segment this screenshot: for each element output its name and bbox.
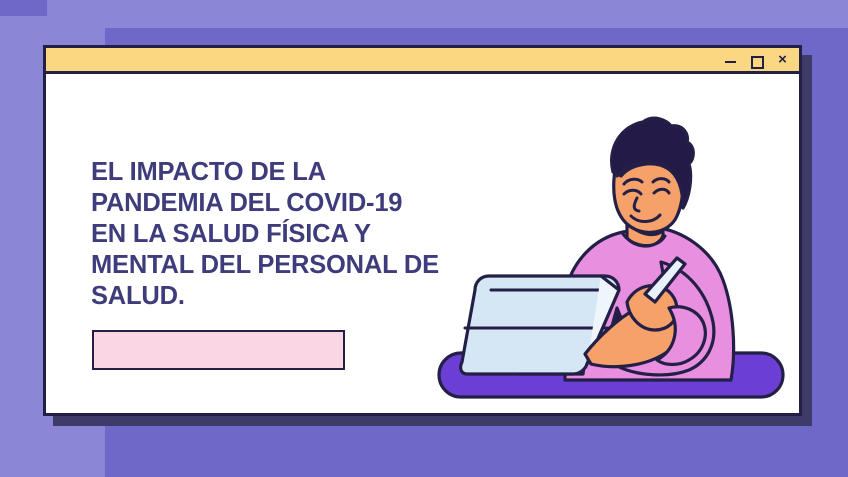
background-corner-notch (0, 0, 47, 16)
minimize-icon[interactable] (724, 53, 737, 67)
window-titlebar: × (46, 48, 799, 74)
maximize-icon[interactable] (750, 53, 763, 67)
window-content: EL IMPACTO DE LA PANDEMIA DEL COVID-19 E… (46, 74, 799, 413)
slide-canvas: × EL IMPACTO DE LA PANDEMIA DEL COVID-19… (0, 0, 848, 477)
close-icon[interactable]: × (776, 53, 789, 67)
person-writing-on-tablet-illustration (431, 112, 791, 402)
subtitle-placeholder-box[interactable] (92, 330, 345, 370)
retro-window: × EL IMPACTO DE LA PANDEMIA DEL COVID-19… (43, 45, 802, 416)
window-controls: × (724, 53, 789, 67)
